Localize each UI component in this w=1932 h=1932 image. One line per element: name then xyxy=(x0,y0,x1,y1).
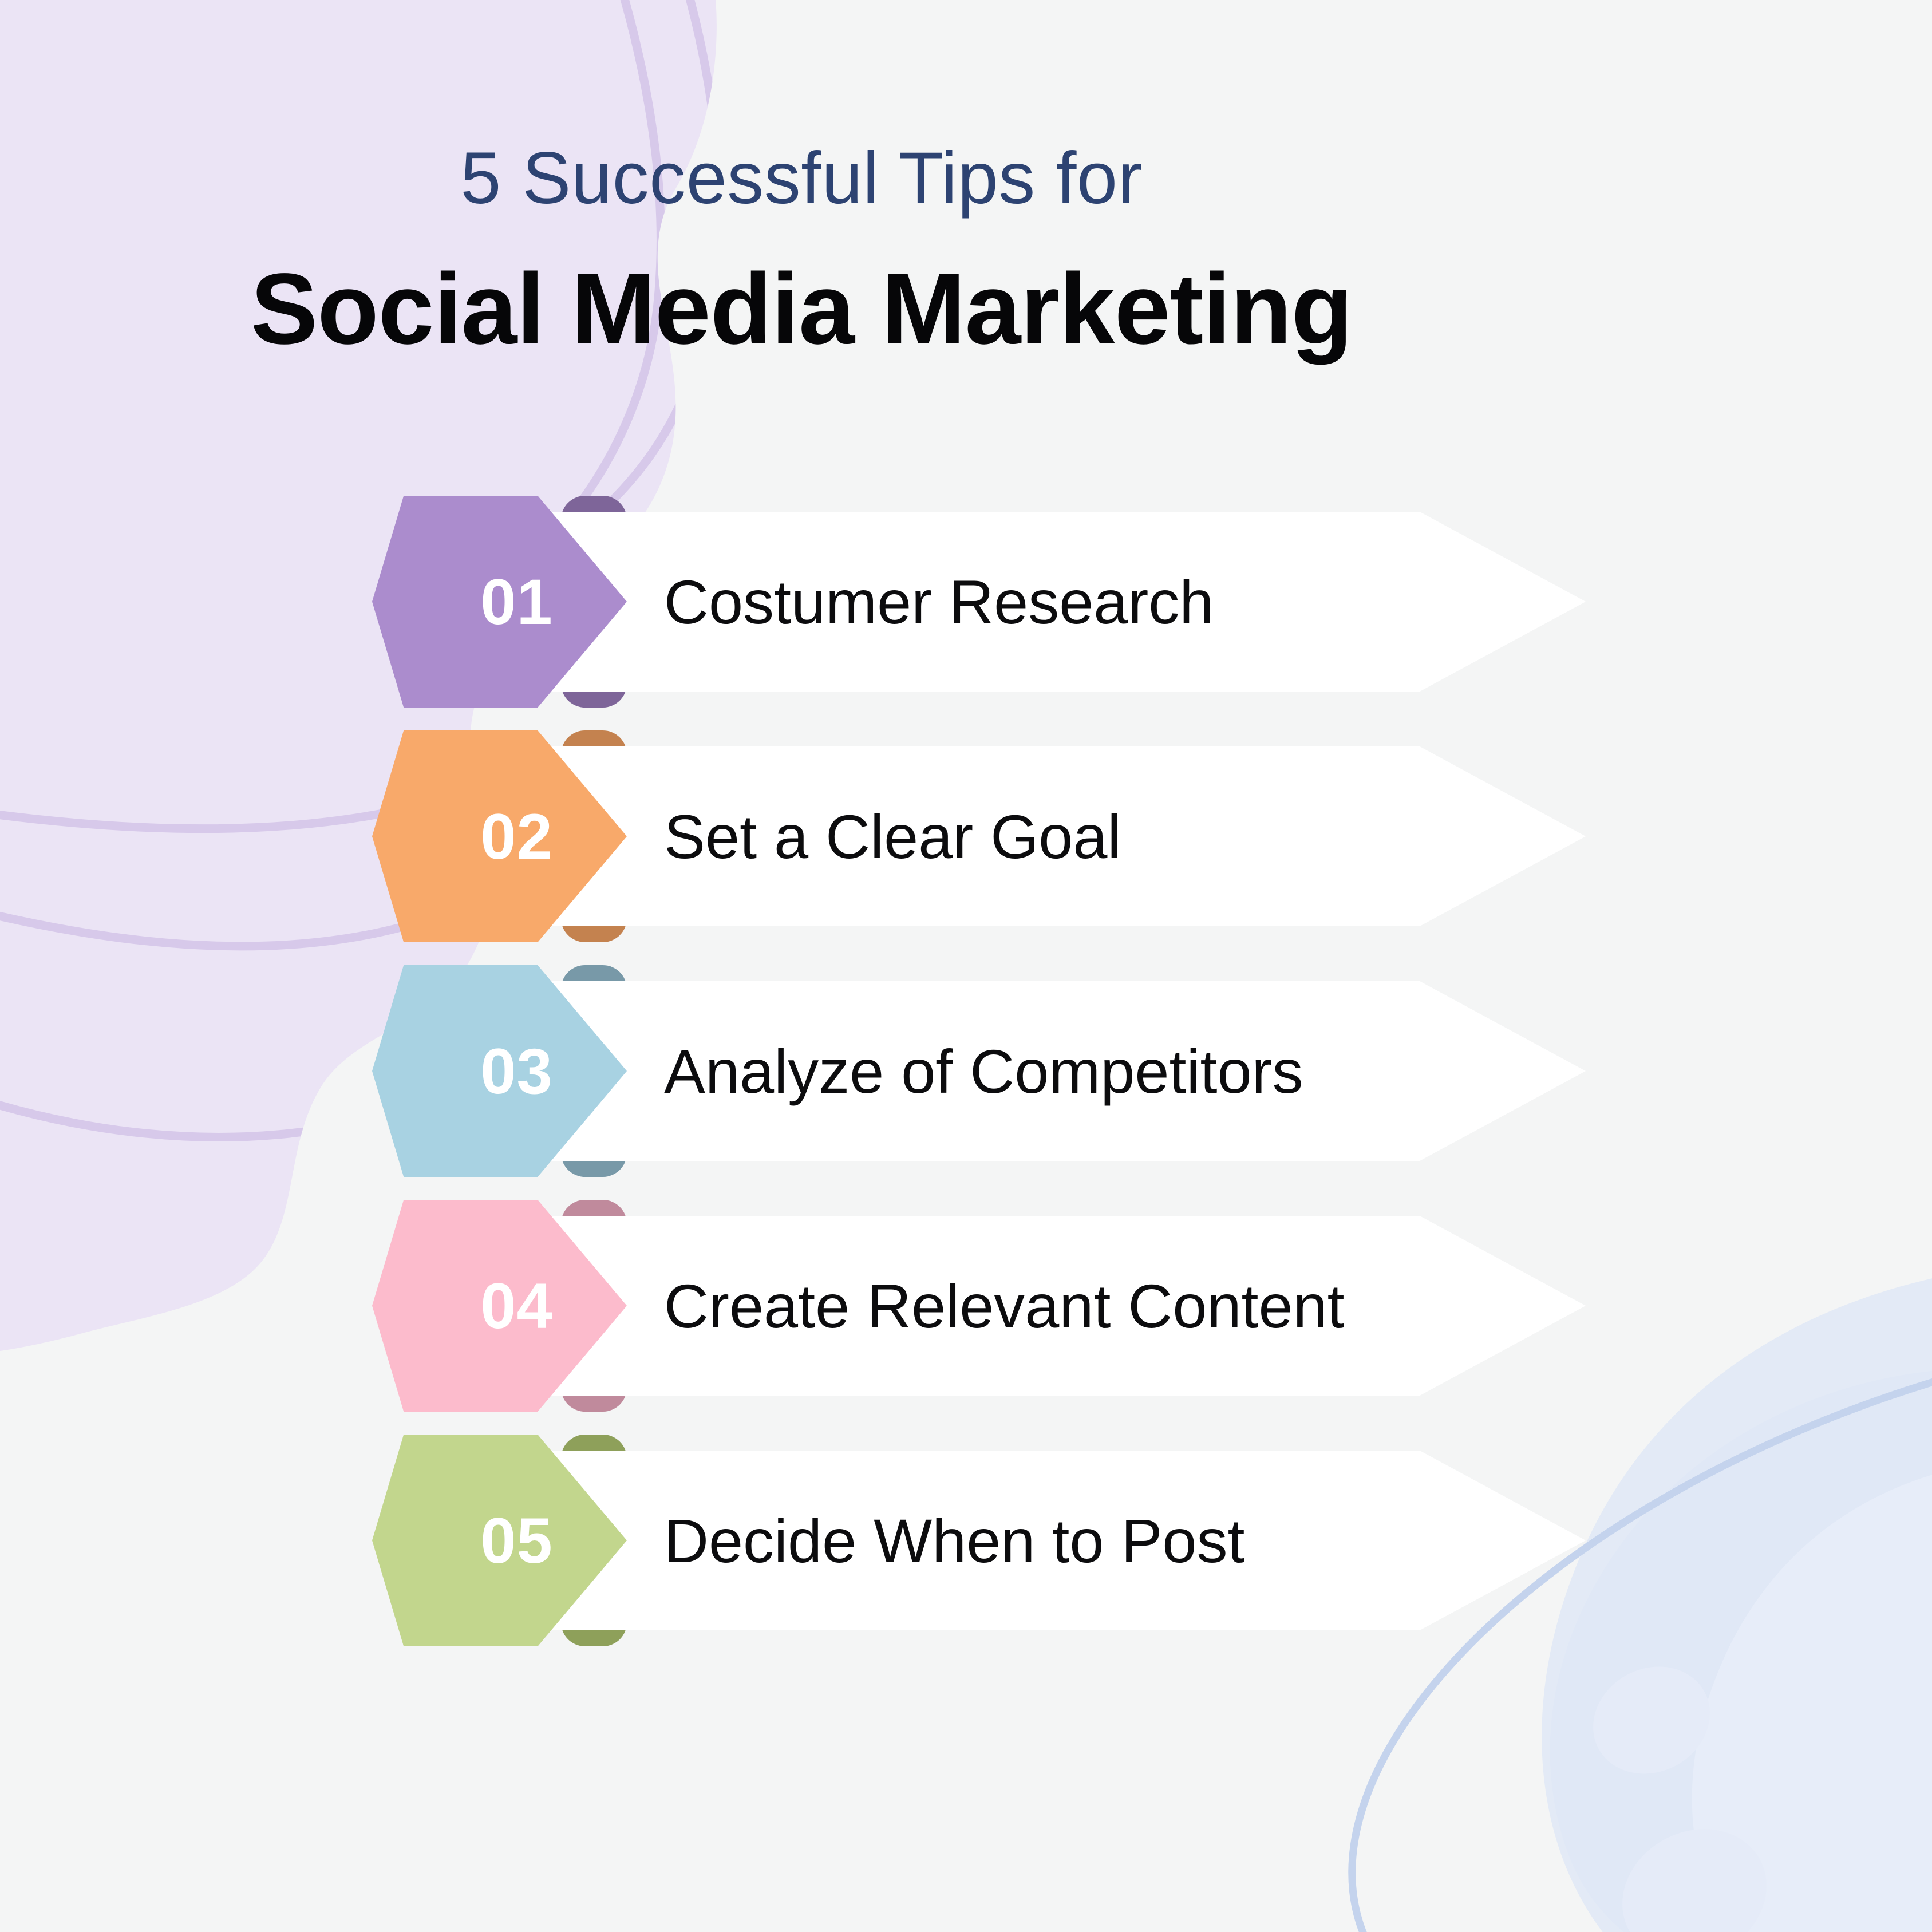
tip-number: 01 xyxy=(372,496,627,708)
list-item[interactable]: 02 Set a Clear Goal xyxy=(0,730,1932,942)
tips-list: 01 Costumer Research 02 Set a Clear Goal… xyxy=(0,0,1932,1932)
tip-label: Set a Clear Goal xyxy=(664,730,1580,942)
tip-number: 04 xyxy=(372,1200,627,1412)
tip-number: 05 xyxy=(372,1435,627,1646)
tip-number: 02 xyxy=(372,730,627,942)
tip-label: Decide When to Post xyxy=(664,1435,1580,1646)
tip-label: Analyze of Competitors xyxy=(664,965,1580,1177)
list-item[interactable]: 04 Create Relevant Content xyxy=(0,1200,1932,1412)
tip-label: Costumer Research xyxy=(664,496,1580,708)
infographic-canvas: 5 Successful Tips for Social Media Marke… xyxy=(0,0,1932,1932)
list-item[interactable]: 05 Decide When to Post xyxy=(0,1435,1932,1646)
list-item[interactable]: 01 Costumer Research xyxy=(0,496,1932,708)
tip-number: 03 xyxy=(372,965,627,1177)
tip-label: Create Relevant Content xyxy=(664,1200,1580,1412)
list-item[interactable]: 03 Analyze of Competitors xyxy=(0,965,1932,1177)
